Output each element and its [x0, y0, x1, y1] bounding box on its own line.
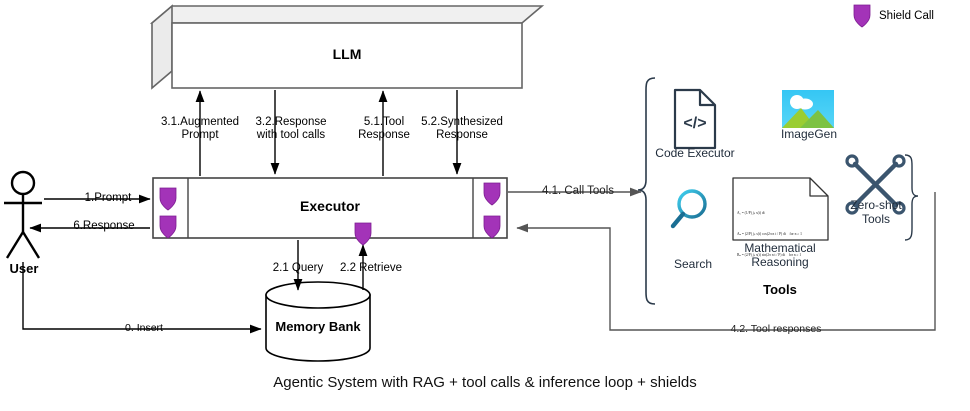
user-actor[interactable]	[4, 172, 42, 258]
tool-label-zero-shot-tools: Zero-shot Tools	[838, 198, 914, 226]
edge-label-0-insert: 0. Insert	[86, 322, 202, 335]
memory-bank-label: Memory Bank	[263, 320, 373, 333]
edge-label-42-tool-responses: 4.2. Tool responses	[714, 323, 838, 336]
image-picture-icon	[782, 90, 834, 128]
tool-label-imagegen: ImageGen	[770, 127, 848, 141]
llm-label: LLM	[272, 48, 422, 61]
tool-label-code-executor: Code Executor	[645, 146, 745, 160]
executor-label: Executor	[255, 200, 405, 213]
edge-0-insert	[23, 262, 261, 329]
shield-legend-icon	[854, 5, 870, 27]
shield-executor-memory-icon	[355, 223, 371, 245]
tool-label-search: Search	[664, 257, 722, 271]
edge-label-41-call-tools: 4.1. Call Tools	[530, 185, 626, 198]
edge-label-52-synthesized-response: 5.2.Synthesized Response	[404, 116, 520, 142]
diagram-canvas: </>	[0, 0, 970, 411]
code-document-icon: </>	[675, 90, 715, 148]
tools-group-label: Tools	[735, 283, 825, 296]
edge-label-1-prompt: 1.Prompt	[60, 192, 156, 205]
math-formula-text: A₀ = (1/P) ∫ₚ s(t) dt Aₙ = (2/P) ∫ₚ s(t)…	[737, 196, 823, 273]
tools-left-brace	[638, 78, 655, 304]
legend-shield-label: Shield Call	[879, 10, 969, 23]
magnifier-icon	[673, 191, 705, 226]
edge-label-21-query: 2.1 Query	[266, 262, 330, 275]
user-label: User	[0, 262, 48, 275]
svg-text:</>: </>	[683, 115, 706, 132]
diagram-caption: Agentic System with RAG + tool calls & i…	[0, 374, 970, 391]
edge-label-6-response: 6.Response	[52, 220, 156, 233]
edge-label-22-retrieve: 2.2 Retrieve	[331, 262, 411, 275]
edge-label-32-response-tool-calls: 3.2.Response with tool calls	[233, 116, 349, 142]
diagram-vector-layer: </>	[0, 0, 970, 411]
